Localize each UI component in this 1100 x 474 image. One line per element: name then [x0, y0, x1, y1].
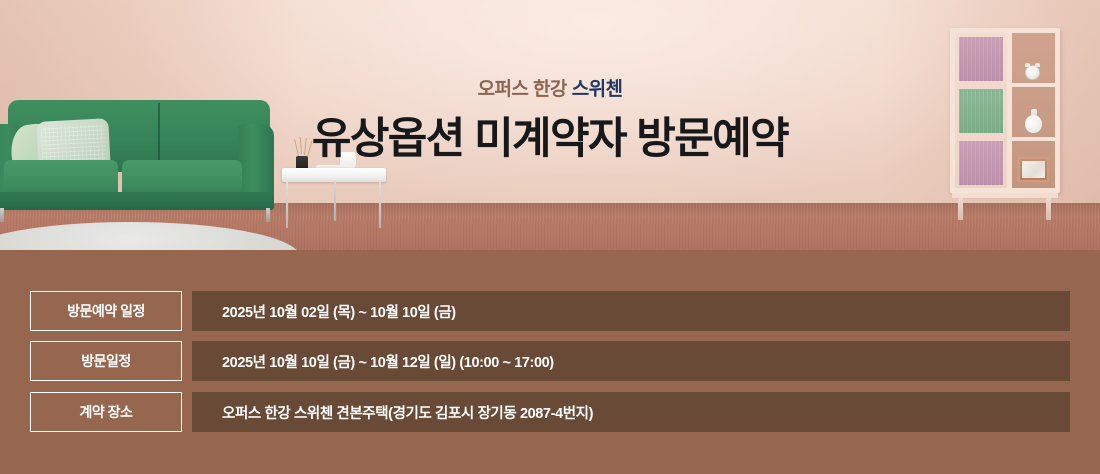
brand-name-prefix: 오퍼스 한강 — [478, 79, 567, 100]
bookshelf-leg-right — [1046, 198, 1051, 220]
side-table-leg-middle — [334, 181, 336, 221]
side-table-top — [282, 168, 386, 182]
table-row: 방문예약 일정 2025년 10월 02일 (목) ~ 10월 10일 (금) — [30, 291, 1070, 331]
hero-banner: 오퍼스 한강스위첸 유상옵션 미계약자 방문예약 — [0, 0, 1100, 250]
side-table-leg-left — [286, 181, 288, 228]
brand-lockup: 오퍼스 한강스위첸 — [0, 80, 1100, 99]
side-table-leg-right — [379, 181, 381, 228]
info-row-label-visit-date: 방문일정 — [30, 341, 182, 381]
sofa-base — [0, 192, 274, 210]
info-row-value-schedule: 2025년 10월 02일 (목) ~ 10월 10일 (금) — [192, 291, 1070, 331]
page-root: 오퍼스 한강스위첸 유상옵션 미계약자 방문예약 방문예약 일정 2025년 1… — [0, 0, 1100, 474]
bookshelf-frame — [950, 28, 1060, 193]
info-row-label-schedule: 방문예약 일정 — [30, 291, 182, 331]
page-title: 유상옵션 미계약자 방문예약 — [0, 115, 1100, 164]
sofa-leg-left — [0, 208, 4, 222]
info-table: 방문예약 일정 2025년 10월 02일 (목) ~ 10월 10일 (금) … — [0, 250, 1100, 474]
side-table-illustration — [282, 168, 386, 230]
brand-name-suffix: 스위첸 — [572, 79, 623, 100]
table-row: 방문일정 2025년 10월 10일 (금) ~ 10월 12일 (일) (10… — [30, 341, 1070, 381]
bookshelf-panel-pink-top — [959, 37, 1003, 81]
bookshelf-leg-left — [958, 198, 963, 220]
info-row-value-location: 오퍼스 한강 스위첸 견본주택(경기도 김포시 장기동 2087-4번지) — [192, 392, 1070, 432]
bookshelf-left-column — [955, 33, 1007, 188]
alarm-clock-icon — [1025, 65, 1040, 80]
table-row: 계약 장소 오퍼스 한강 스위첸 견본주택(경기도 김포시 장기동 2087-4… — [30, 392, 1070, 432]
sofa-leg-right — [266, 208, 270, 222]
bookshelf-base — [952, 193, 1058, 198]
info-row-value-visit-date: 2025년 10월 10일 (금) ~ 10월 12일 (일) (10:00 ~… — [192, 341, 1070, 381]
info-row-label-location: 계약 장소 — [30, 392, 182, 432]
